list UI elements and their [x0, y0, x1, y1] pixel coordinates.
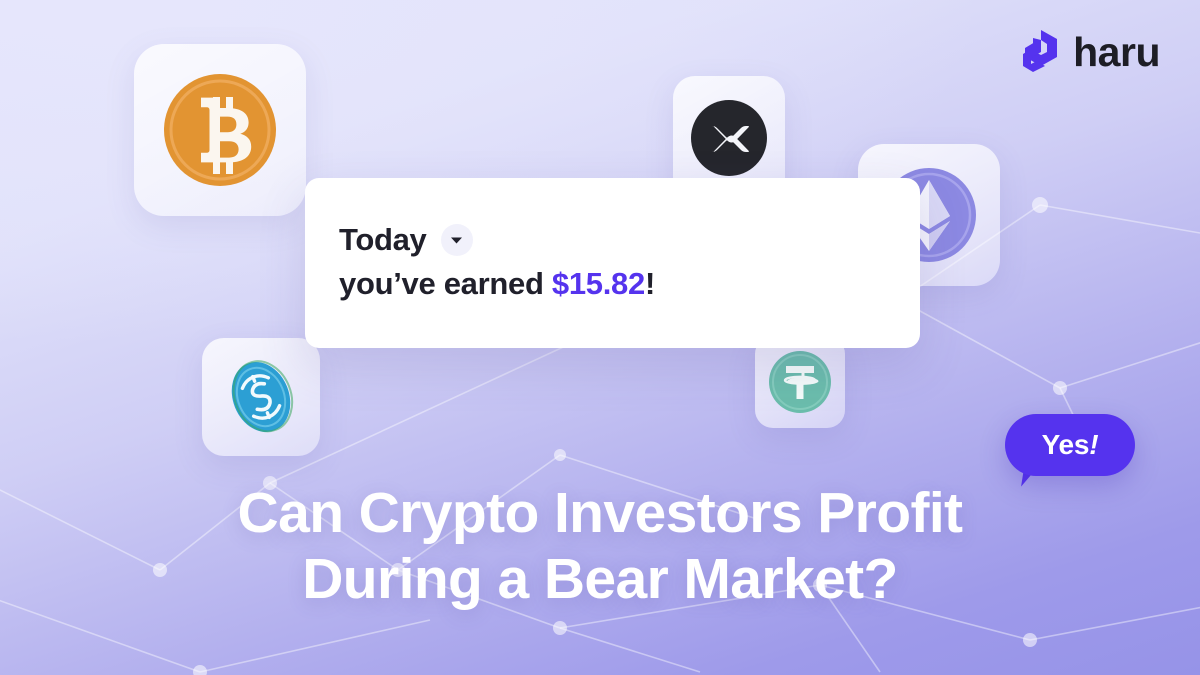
haru-hexagon-logo-icon — [1015, 28, 1059, 76]
period-selector-row: Today — [305, 222, 920, 258]
bubble-emphasis: ! — [1089, 429, 1098, 460]
xrp-icon — [689, 98, 769, 178]
period-dropdown-button[interactable] — [441, 224, 473, 256]
earnings-sentence: you’ve earned $15.82! — [305, 266, 920, 302]
earnings-amount: $15.82 — [552, 266, 645, 301]
brand-logo[interactable]: haru — [1015, 28, 1160, 76]
headline: Can Crypto Investors Profit During a Bea… — [0, 480, 1200, 612]
period-label: Today — [339, 222, 427, 258]
earnings-suffix: ! — [645, 266, 655, 301]
tether-icon — [767, 349, 833, 415]
brand-name: haru — [1073, 32, 1160, 73]
bubble-word: Yes — [1042, 429, 1090, 460]
earnings-card: Today you’ve earned $15.82! — [305, 178, 920, 348]
bitcoin-icon — [161, 71, 279, 189]
chevron-down-icon — [450, 236, 463, 245]
coin-tile-tether — [755, 336, 845, 428]
earnings-prefix: you’ve earned — [339, 266, 552, 301]
coin-tile-bitcoin — [134, 44, 306, 216]
yes-speech-bubble: Yes! — [1005, 414, 1135, 476]
usdc-icon — [219, 355, 303, 439]
coin-tile-usdc — [202, 338, 320, 456]
promo-banner: haru — [0, 0, 1200, 675]
headline-line-2: During a Bear Market? — [0, 546, 1200, 612]
speech-bubble-label: Yes! — [1042, 429, 1099, 461]
headline-line-1: Can Crypto Investors Profit — [0, 480, 1200, 546]
